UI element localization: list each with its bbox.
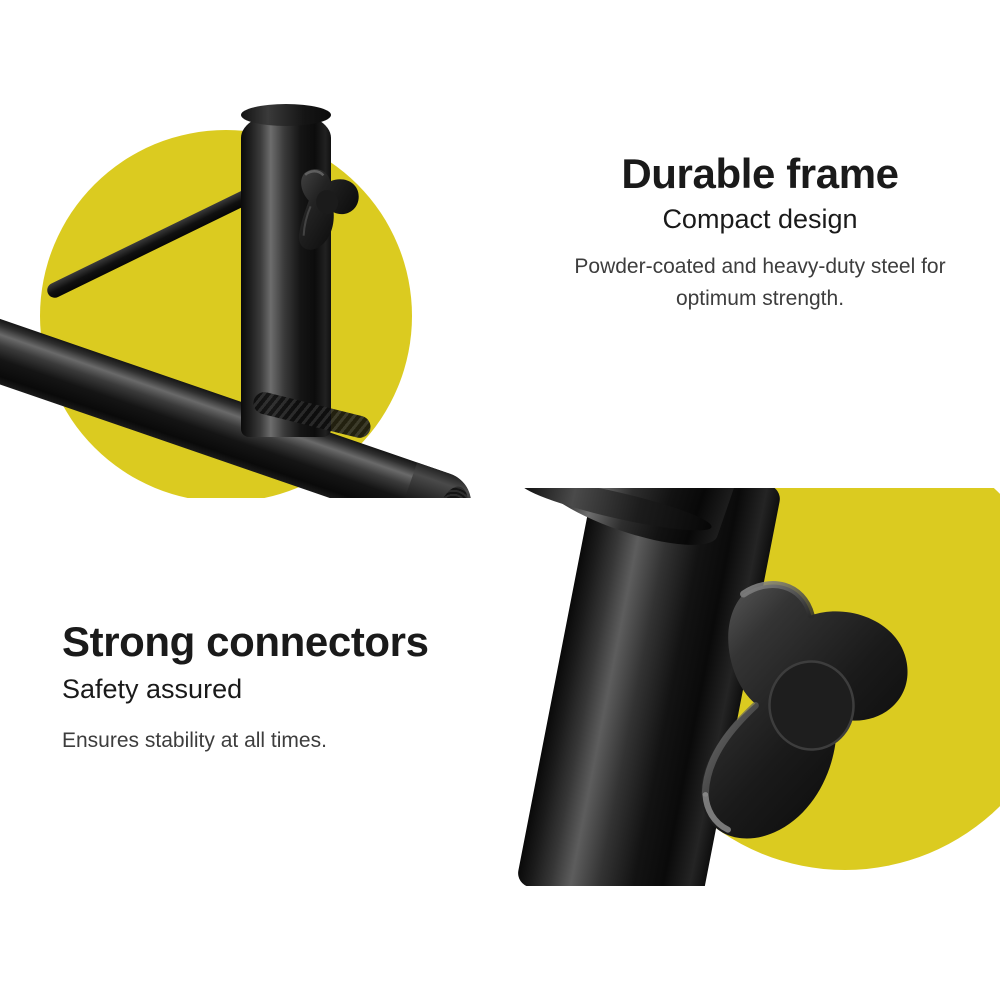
feature-text-strong-connectors: Strong connectors Safety assured Ensures…	[62, 618, 492, 757]
tri-knob-small-icon	[282, 157, 374, 259]
photo-panel-frame-joint	[0, 0, 500, 498]
vertical-frame-tube	[241, 112, 331, 437]
feature-subhead: Compact design	[540, 203, 980, 235]
vertical-tube-top-rim	[241, 104, 331, 126]
photo-panel-connector-knob	[500, 488, 1000, 886]
product-feature-collage: Durable frame Compact design Powder-coat…	[0, 0, 1000, 1000]
feature-body-copy: Ensures stability at all times.	[62, 725, 492, 756]
feature-body-copy: Powder-coated and heavy-duty steel for o…	[540, 251, 980, 313]
feature-headline: Strong connectors	[62, 618, 492, 665]
feature-headline: Durable frame	[540, 150, 980, 197]
tri-knob-large-icon	[651, 568, 959, 858]
feature-text-durable-frame: Durable frame Compact design Powder-coat…	[540, 150, 980, 314]
feature-subhead: Safety assured	[62, 673, 492, 705]
